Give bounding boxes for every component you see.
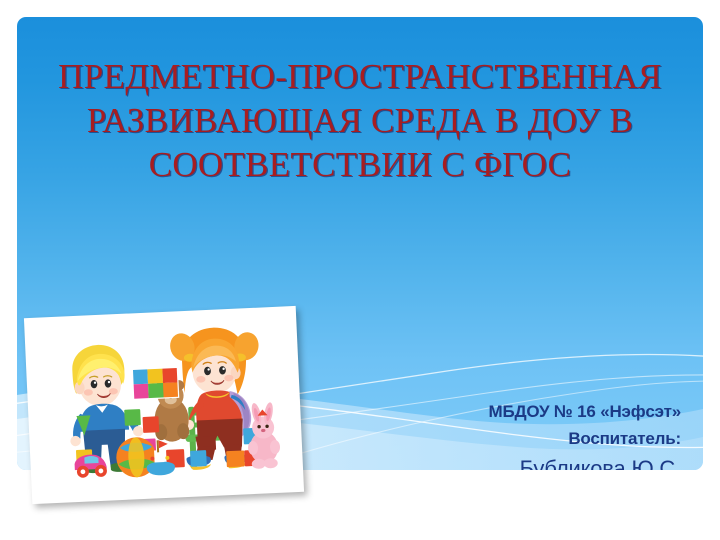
author-name: Бубликова Ю.С.	[351, 453, 681, 470]
photo-frame	[24, 306, 304, 504]
photo-illustration	[34, 314, 293, 485]
author-role: Воспитатель:	[351, 425, 681, 453]
slide-title: ПРЕДМЕТНО-ПРОСТРАНСТВЕННАЯ РАЗВИВАЮЩАЯ С…	[55, 55, 665, 187]
slide-canvas: ПРЕДМЕТНО-ПРОСТРАНСТВЕННАЯ РАЗВИВАЮЩАЯ С…	[0, 0, 720, 540]
organization-name: МБДОУ № 16 «Нэфсэт»	[351, 399, 681, 425]
author-block: МБДОУ № 16 «Нэфсэт» Воспитатель: Бублико…	[351, 399, 681, 470]
